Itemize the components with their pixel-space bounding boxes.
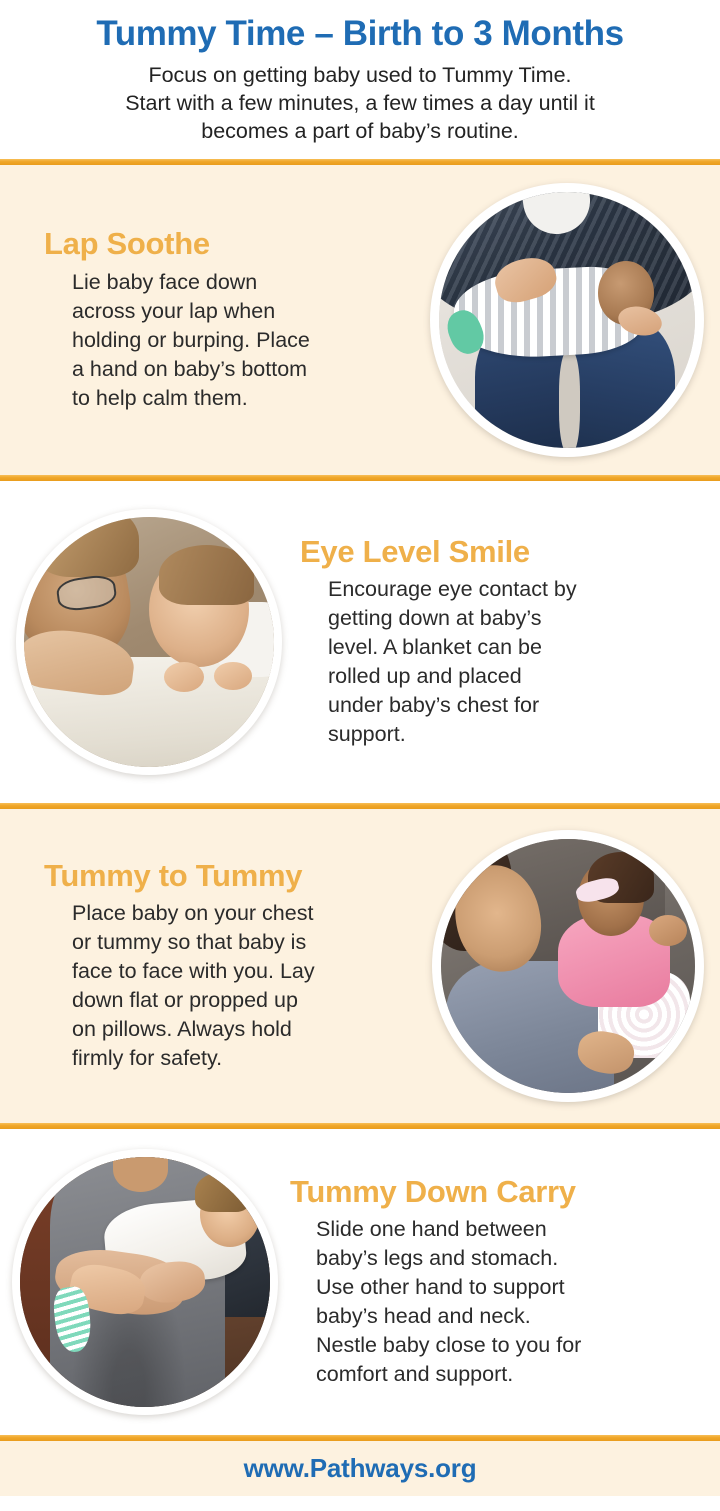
section-tummy-down-carry-text: Tummy Down Carry Slide one hand between … [278,1176,708,1389]
body-line: rolled up and placed [328,662,696,691]
section-tummy-down-carry: Tummy Down Carry Slide one hand between … [0,1129,720,1435]
body-line: face to face with you. Lay [72,957,428,986]
header-subtitle-line-3: becomes a part of baby’s routine. [50,117,670,145]
section-tummy-down-carry-body: Slide one hand between baby’s legs and s… [290,1215,704,1388]
photo-tummy-down-carry [12,1149,278,1415]
section-tummy-to-tummy-photo-wrap [432,830,704,1102]
photo-tummy-to-tummy [432,830,704,1102]
section-lap-soothe-body: Lie baby face down across your lap when … [44,268,424,413]
section-tummy-to-tummy-heading: Tummy to Tummy [44,860,428,893]
body-line: level. A blanket can be [328,633,696,662]
body-line: baby’s legs and stomach. [316,1244,704,1273]
section-eye-level-smile-photo-wrap [16,509,282,775]
body-line: Nestle baby close to you for [316,1331,704,1360]
section-tummy-to-tummy: Tummy to Tummy Place baby on your chest … [0,809,720,1123]
header-subtitle-line-1: Focus on getting baby used to Tummy Time… [50,61,670,89]
section-lap-soothe: Lap Soothe Lie baby face down across you… [0,165,720,475]
body-line: comfort and support. [316,1360,704,1389]
photo-eye-level-smile [16,509,282,775]
photo-lap-soothe [430,183,704,457]
body-line: down flat or propped up [72,986,428,1015]
header: Tummy Time – Birth to 3 Months Focus on … [0,0,720,159]
body-line: to help calm them. [72,384,424,413]
body-line: holding or burping. Place [72,326,424,355]
section-eye-level-smile-heading: Eye Level Smile [300,536,696,569]
body-line: support. [328,720,696,749]
footer-website-link[interactable]: www.Pathways.org [244,1453,477,1484]
body-line: a hand on baby’s bottom [72,355,424,384]
body-line: getting down at baby’s [328,604,696,633]
section-lap-soothe-heading: Lap Soothe [44,228,424,261]
header-subtitle: Focus on getting baby used to Tummy Time… [22,61,698,145]
body-line: on pillows. Always hold [72,1015,428,1044]
section-eye-level-smile-body: Encourage eye contact by getting down at… [300,575,696,748]
section-lap-soothe-text: Lap Soothe Lie baby face down across you… [16,228,430,412]
body-line: Slide one hand between [316,1215,704,1244]
body-line: under baby’s chest for [328,691,696,720]
body-line: baby’s head and neck. [316,1302,704,1331]
infographic-page: Tummy Time – Birth to 3 Months Focus on … [0,0,720,1511]
section-lap-soothe-photo-wrap [430,183,704,457]
header-subtitle-line-2: Start with a few minutes, a few times a … [50,89,670,117]
body-line: Lie baby face down [72,268,424,297]
section-tummy-to-tummy-body: Place baby on your chest or tummy so tha… [44,899,428,1072]
body-line: Use other hand to support [316,1273,704,1302]
body-line: firmly for safety. [72,1044,428,1073]
body-line: or tummy so that baby is [72,928,428,957]
section-eye-level-smile: Eye Level Smile Encourage eye contact by… [0,481,720,803]
page-title: Tummy Time – Birth to 3 Months [22,16,698,53]
section-tummy-down-carry-photo-wrap [12,1149,278,1415]
body-line: Place baby on your chest [72,899,428,928]
footer: www.Pathways.org [0,1441,720,1496]
body-line: across your lap when [72,297,424,326]
section-eye-level-smile-text: Eye Level Smile Encourage eye contact by… [282,536,704,749]
section-tummy-to-tummy-text: Tummy to Tummy Place baby on your chest … [16,860,432,1073]
body-line: Encourage eye contact by [328,575,696,604]
section-tummy-down-carry-heading: Tummy Down Carry [290,1176,704,1209]
